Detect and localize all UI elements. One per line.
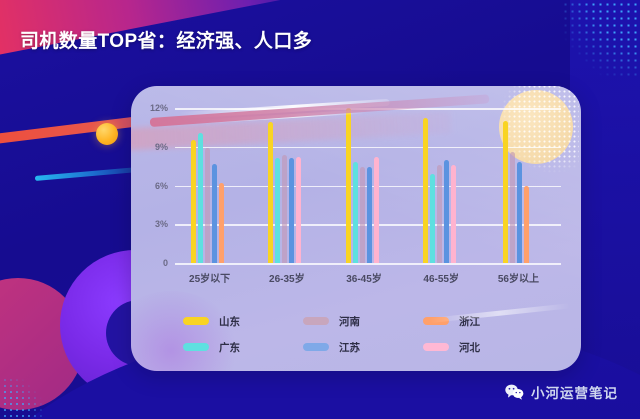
legend-swatch — [183, 317, 209, 325]
bar — [205, 148, 210, 263]
bar — [451, 165, 456, 263]
bar — [374, 157, 379, 263]
x-axis-label: 26-35岁 — [269, 270, 305, 285]
bar-group — [503, 108, 529, 263]
legend-item: 河北 — [423, 334, 543, 360]
watermark: 小河运营笔记 — [505, 382, 618, 402]
bar — [437, 165, 442, 263]
x-axis-label: 36-45岁 — [346, 270, 382, 285]
bar-group — [268, 108, 301, 263]
legend-label: 广东 — [219, 340, 240, 355]
bar — [296, 157, 301, 263]
legend-label: 河北 — [459, 340, 480, 355]
bar-group — [423, 108, 456, 263]
legend-swatch — [183, 343, 209, 351]
legend-item: 山东 — [183, 308, 303, 334]
x-axis-label: 46-55岁 — [423, 270, 459, 285]
orange-ball-decoration — [96, 123, 118, 145]
bar — [191, 140, 196, 263]
legend-label: 江苏 — [339, 340, 360, 355]
x-axis-label: 56岁以上 — [498, 270, 539, 285]
bar — [268, 122, 273, 263]
legend-swatch — [303, 343, 329, 351]
bar — [430, 174, 435, 263]
y-axis-tick-label: 9% — [155, 142, 168, 152]
watermark-text: 小河运营笔记 — [531, 382, 618, 402]
chart-card: 03%6%9%12% 25岁以下26-35岁36-45岁46-55岁56岁以上 … — [131, 86, 581, 371]
bar — [524, 186, 529, 264]
legend-label: 山东 — [219, 314, 240, 329]
bar-group — [346, 108, 379, 263]
legend-item: 广东 — [183, 334, 303, 360]
legend-swatch — [303, 317, 329, 325]
bar — [503, 121, 508, 263]
legend-item: 河南 — [303, 308, 423, 334]
bar — [212, 164, 217, 263]
bar — [219, 183, 224, 263]
x-axis-label: 25岁以下 — [189, 270, 230, 285]
bar — [510, 152, 515, 263]
y-axis-tick-label: 6% — [155, 181, 168, 191]
bar-group — [191, 108, 224, 263]
legend-item: 江苏 — [303, 334, 423, 360]
bar-series-container — [175, 108, 561, 263]
legend-label: 河南 — [339, 314, 360, 329]
bar — [275, 158, 280, 263]
y-axis-tick-label: 0 — [163, 258, 168, 268]
bar — [444, 160, 449, 263]
bar — [346, 108, 351, 263]
gridline — [175, 263, 561, 265]
wechat-icon — [505, 384, 524, 400]
dot-grid-bottom-left-decoration — [0, 377, 42, 419]
page-title: 司机数量TOP省：经济强、人口多 — [20, 26, 312, 53]
bar — [423, 118, 428, 263]
legend-swatch — [423, 343, 449, 351]
bar — [353, 162, 358, 263]
bar — [198, 133, 203, 263]
bar — [289, 158, 294, 263]
bar — [367, 167, 372, 263]
y-axis-tick-label: 12% — [150, 103, 168, 113]
bar — [360, 167, 365, 263]
bar-chart-plot-area: 03%6%9%12% 25岁以下26-35岁36-45岁46-55岁56岁以上 — [175, 108, 561, 263]
y-axis-tick-label: 3% — [155, 219, 168, 229]
bar — [282, 155, 287, 264]
bar — [517, 162, 522, 263]
dot-grid-top-right-decoration — [562, 0, 640, 80]
